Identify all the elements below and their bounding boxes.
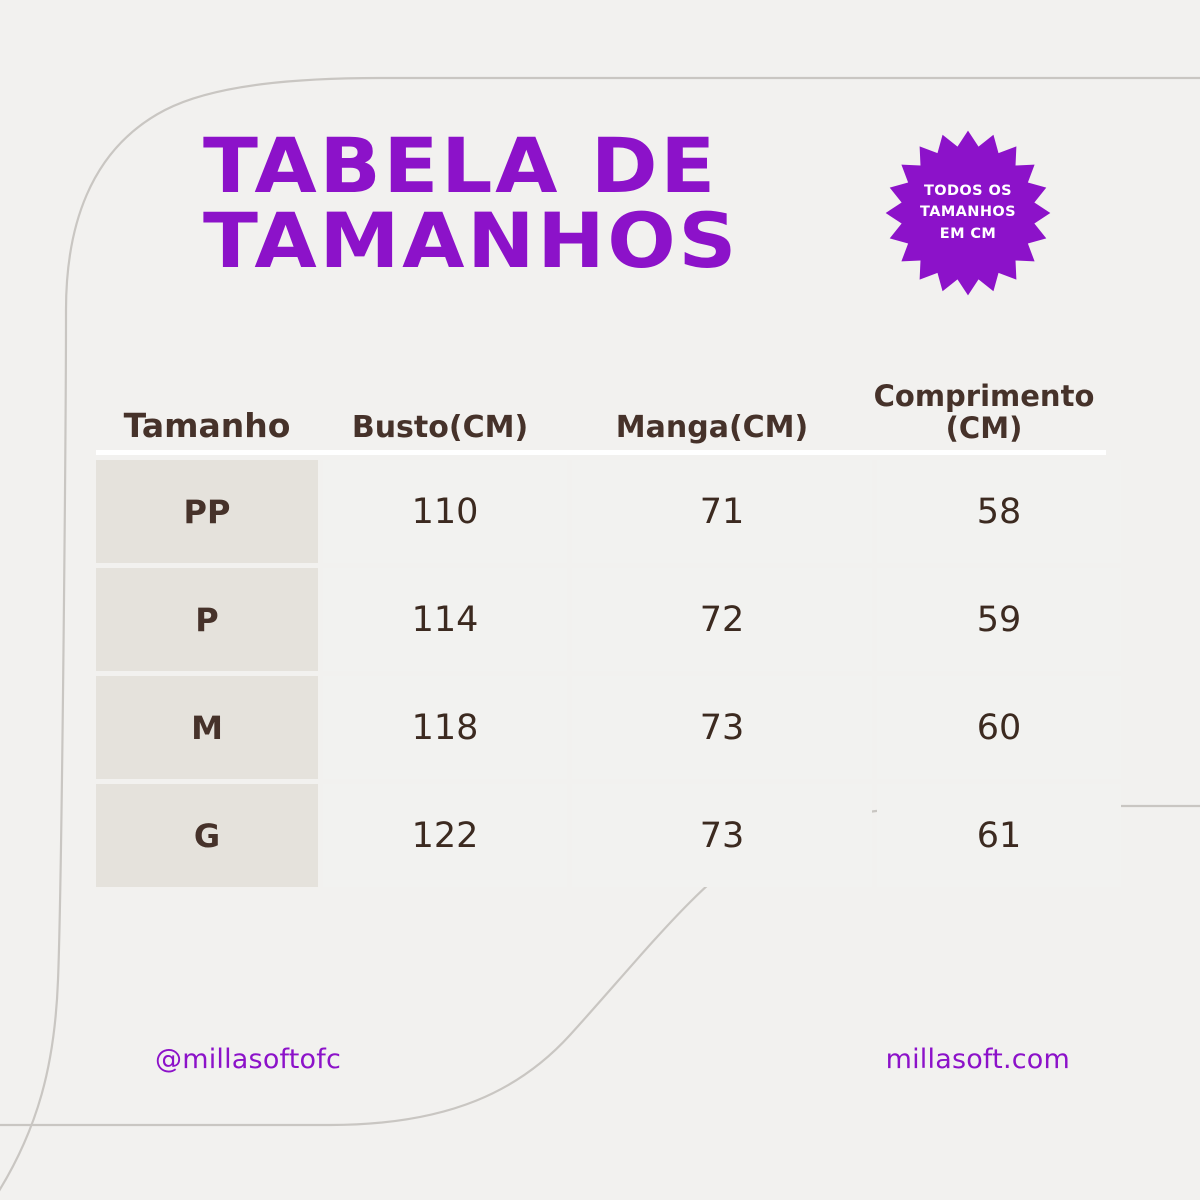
title-line-2: TAMANHOS [203,203,892,278]
cell-comprimento: 61 [877,784,1121,887]
cell-size: P [96,568,318,671]
cell-comprimento: 59 [877,568,1121,671]
cell-busto: 110 [323,460,567,563]
title-line-1: TABELA DE [203,128,892,203]
column-header-comprimento: Comprimento (CM) [862,381,1106,450]
cell-busto: 122 [323,784,567,887]
cell-size: G [96,784,318,887]
cell-comprimento: 58 [877,460,1121,563]
cell-size: M [96,676,318,779]
column-header-manga: Manga(CM) [562,412,862,450]
table-body: PP1107158P1147259M1187360G1227361 [96,450,1106,887]
cell-busto: 114 [323,568,567,671]
footer: @millasoftofc millasoft.com [155,1044,1070,1075]
instagram-handle[interactable]: @millasoftofc [155,1044,341,1075]
page-title: TABELA DE TAMANHOS [203,128,853,278]
cell-size: PP [96,460,318,563]
badge-line-3: EM CM [940,224,996,245]
column-header-comprimento-main: Comprimento [874,379,1095,413]
cell-manga: 71 [572,460,872,563]
cell-manga: 72 [572,568,872,671]
table-header-row: Tamanho Busto(CM) Manga(CM) Comprimento … [96,362,1106,450]
column-header-busto: Busto(CM) [318,412,562,450]
badge-line-1: TODOS OS [924,181,1012,202]
cell-manga: 73 [572,676,872,779]
cell-comprimento: 60 [877,676,1121,779]
badge-line-2: TAMANHOS [920,202,1016,223]
cell-busto: 118 [323,676,567,779]
badge-text: TODOS OS TAMANHOS EM CM [884,128,1052,298]
size-chart-page: TABELA DE TAMANHOS TODOS OS TAMANHOS EM … [0,0,1200,1200]
starburst-badge: TODOS OS TAMANHOS EM CM [884,128,1052,298]
website-link[interactable]: millasoft.com [886,1044,1070,1075]
cell-manga: 73 [572,784,872,887]
column-header-tamanho: Tamanho [96,408,318,450]
column-header-comprimento-unit: (CM) [862,413,1106,444]
size-table: Tamanho Busto(CM) Manga(CM) Comprimento … [96,362,1106,887]
